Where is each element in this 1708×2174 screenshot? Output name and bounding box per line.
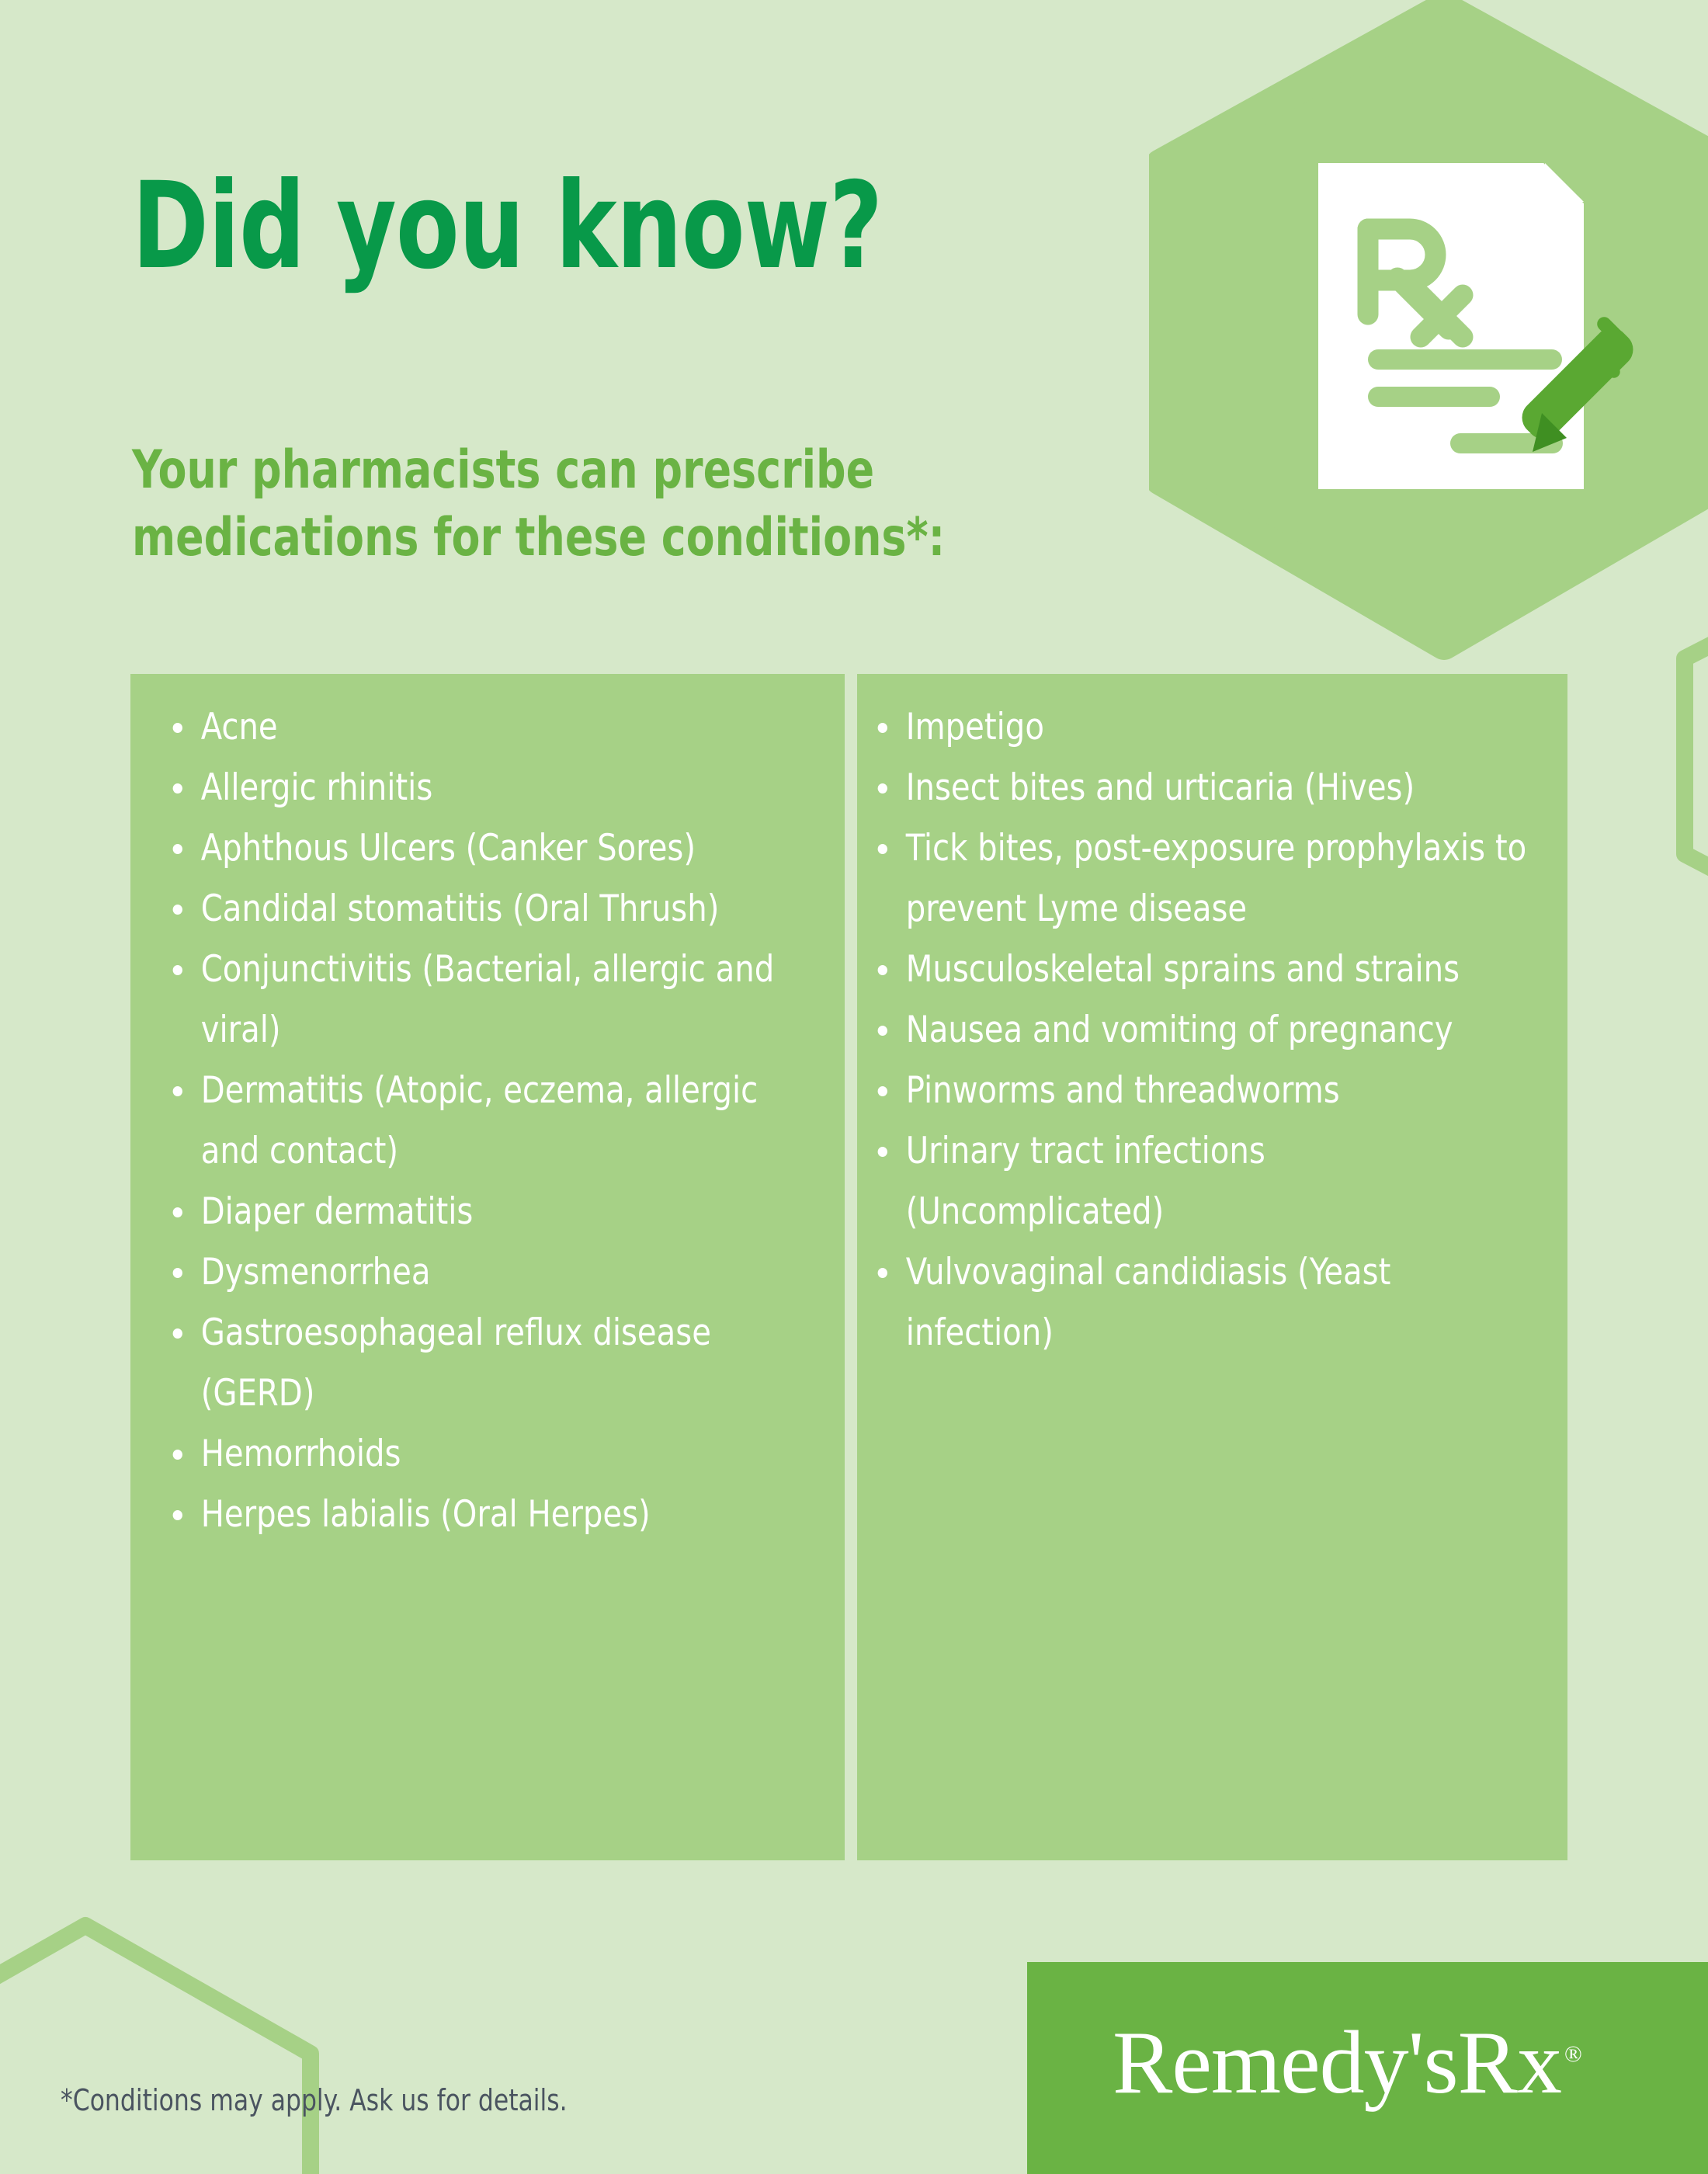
- page-subtitle: Your pharmacists can prescribe medicatio…: [132, 436, 1020, 571]
- list-item: Impetigo: [872, 697, 1533, 758]
- list-item: Hemorrhoids: [167, 1424, 811, 1485]
- list-item: Diaper dermatitis: [167, 1182, 811, 1242]
- brand-logo-block: Remedy'sRx®: [1027, 1962, 1708, 2174]
- list-item: Aphthous Ulcers (Canker Sores): [167, 818, 811, 879]
- poster-canvas: Did you know? Your pharmacists can presc…: [0, 0, 1708, 2174]
- conditions-list-left: AcneAllergic rhinitisAphthous Ulcers (Ca…: [130, 697, 845, 1545]
- list-item: Pinworms and threadworms: [872, 1061, 1533, 1121]
- list-item: Dysmenorrhea: [167, 1242, 811, 1303]
- list-item: Candidal stomatitis (Oral Thrush): [167, 879, 811, 939]
- list-item: Gastroesophageal reflux disease (GERD): [167, 1303, 811, 1424]
- page-title: Did you know?: [132, 167, 882, 287]
- conditions-panel-left: AcneAllergic rhinitisAphthous Ulcers (Ca…: [130, 674, 845, 1860]
- registered-trademark-icon: ®: [1564, 2041, 1581, 2067]
- list-item: Musculoskeletal sprains and strains: [872, 939, 1533, 1000]
- hexagon-outline-right: [1576, 621, 1708, 986]
- hexagon-outline-bottom-left: [0, 1894, 342, 2174]
- list-item: Urinary tract infections (Uncomplicated): [872, 1121, 1533, 1242]
- conditions-panel-right: ImpetigoInsect bites and urticaria (Hive…: [857, 674, 1567, 1860]
- list-item: Vulvovaginal candidiasis (Yeast infectio…: [872, 1242, 1533, 1363]
- list-item: Acne: [167, 697, 811, 758]
- brand-wordmark: Remedy'sRx®: [1113, 2018, 1581, 2108]
- list-item: Insect bites and urticaria (Hives): [872, 758, 1533, 818]
- footnote-text: *Conditions may apply. Ask us for detail…: [61, 2083, 568, 2119]
- brand-name-text: Remedy'sRx: [1113, 2013, 1561, 2113]
- list-item: Herpes labialis (Oral Herpes): [167, 1485, 811, 1545]
- list-item: Conjunctivitis (Bacterial, allergic and …: [167, 939, 811, 1061]
- conditions-list-right: ImpetigoInsect bites and urticaria (Hive…: [857, 697, 1567, 1363]
- list-item: Nausea and vomiting of pregnancy: [872, 1000, 1533, 1061]
- list-item: Tick bites, post-exposure prophylaxis to…: [872, 818, 1533, 939]
- list-item: Allergic rhinitis: [167, 758, 811, 818]
- list-item: Dermatitis (Atopic, eczema, allergic and…: [167, 1061, 811, 1182]
- prescription-document-icon: [1311, 155, 1668, 497]
